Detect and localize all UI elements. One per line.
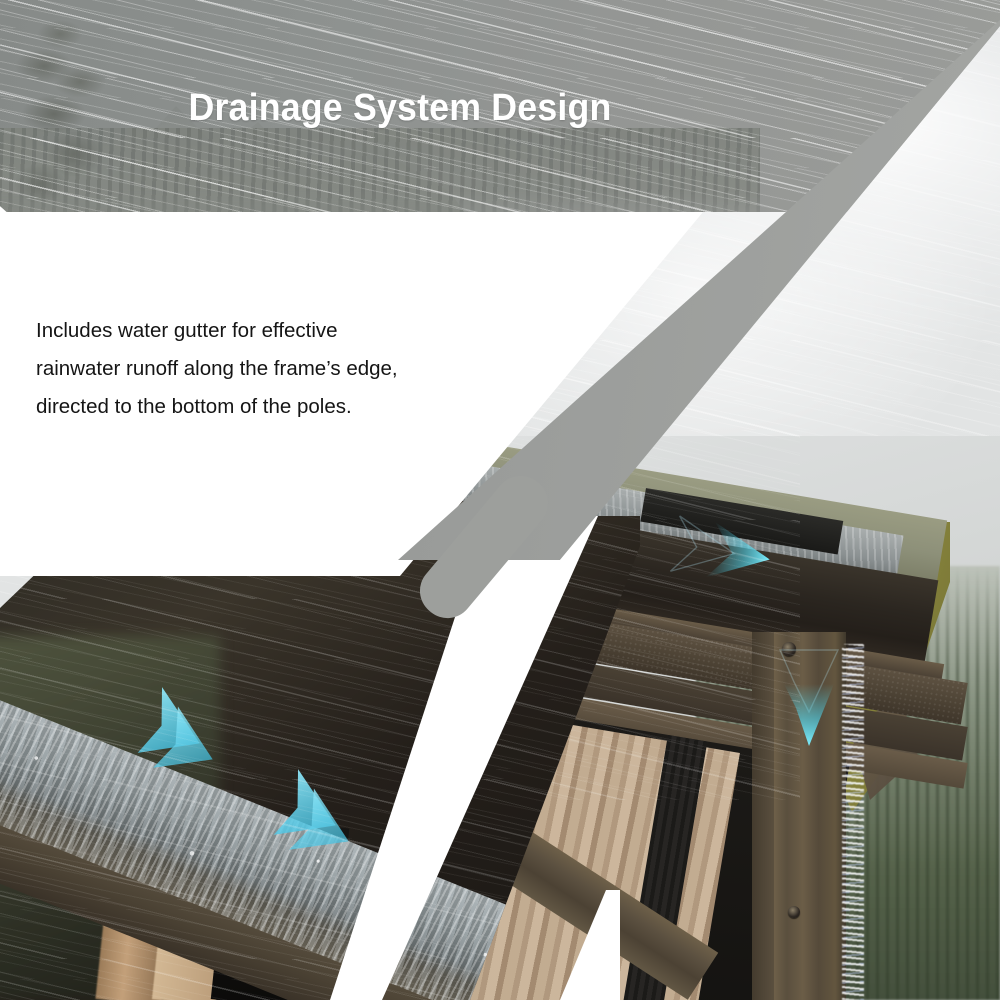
- description-text: Includes water gutter for effective rain…: [36, 312, 516, 426]
- water-stream: [842, 644, 864, 1000]
- post-screw-lower: [788, 906, 800, 918]
- infographic-canvas: Drainage System Design Includes water gu…: [0, 0, 1000, 1000]
- description-line-3: directed to the bottom of the poles.: [36, 388, 516, 426]
- description-line-1: Includes water gutter for effective: [36, 312, 516, 350]
- post-screw-upper: [782, 642, 796, 656]
- corner-post-edge: [752, 632, 776, 1000]
- description-line-2: rainwater runoff along the frame’s edge,: [36, 350, 516, 388]
- corner-post: [774, 632, 846, 1000]
- page-title: Drainage System Design: [24, 87, 776, 130]
